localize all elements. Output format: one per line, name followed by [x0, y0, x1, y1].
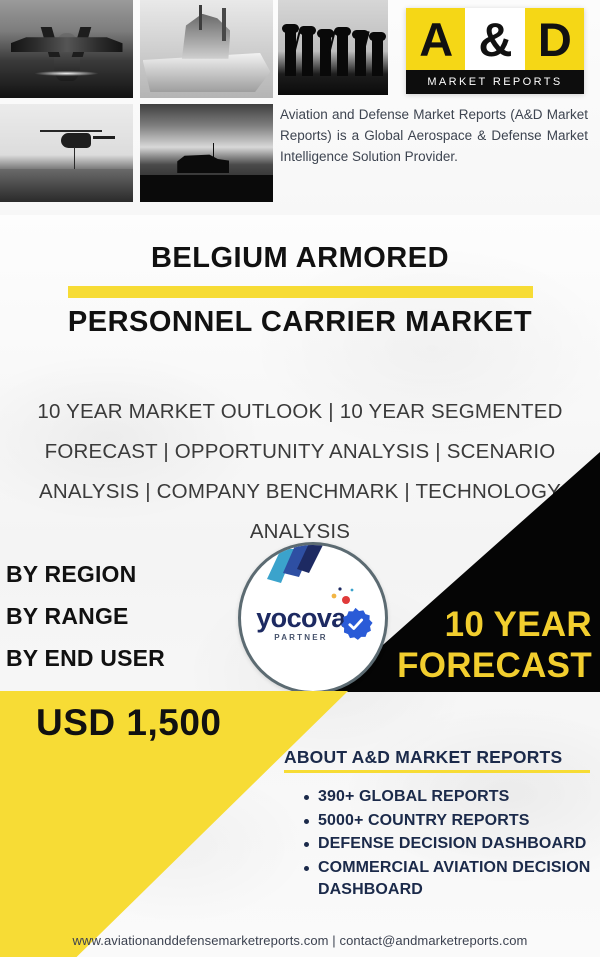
naval-warship-photo: [140, 0, 273, 98]
segmentation-list: BY REGION BY RANGE BY END USER: [6, 558, 165, 684]
title-yellow-rule: [68, 286, 533, 298]
list-item: 390+ GLOBAL REPORTS: [318, 786, 600, 809]
ad-market-reports-logo: A & D MARKET REPORTS: [406, 8, 584, 94]
fighter-jet-photo: [0, 0, 133, 98]
list-item: COMMERCIAL AVIATION DECISION DASHBOARD: [318, 857, 600, 902]
armored-vehicle-photo: [140, 104, 273, 202]
report-scope-subtitle: 10 YEAR MARKET OUTLOOK | 10 YEAR SEGMENT…: [20, 392, 580, 552]
logo-letter-ampersand: &: [465, 8, 524, 70]
about-bullet-list: 390+ GLOBAL REPORTS 5000+ COUNTRY REPORT…: [296, 786, 600, 903]
header-band: A & D MARKET REPORTS Aviation and Defens…: [0, 0, 600, 215]
report-title-line-2: PERSONNEL CARRIER MARKET: [0, 307, 600, 339]
logo-letter-row: A & D: [406, 8, 584, 70]
yocova-mark-icon: [267, 542, 323, 593]
segmentation-item-range: BY RANGE: [6, 600, 165, 633]
segmentation-item-region: BY REGION: [6, 558, 165, 591]
about-heading: ABOUT A&D MARKET REPORTS: [284, 747, 590, 768]
logo-tagline-text: MARKET REPORTS: [427, 76, 562, 88]
logo-letter-a: A: [406, 8, 465, 70]
list-item: 5000+ COUNTRY REPORTS: [318, 810, 600, 833]
report-title-line-1: BELGIUM ARMORED: [0, 243, 600, 275]
list-item: DEFENSE DECISION DASHBOARD: [318, 833, 600, 856]
yocova-partner-badge: yocova PARTNER: [238, 542, 388, 694]
report-poster: A & D MARKET REPORTS Aviation and Defens…: [0, 0, 600, 957]
report-title-block: BELGIUM ARMORED PERSONNEL CARRIER MARKET: [0, 243, 600, 339]
logo-letter-d: D: [525, 8, 584, 70]
price-label: USD 1,500: [36, 702, 222, 744]
verified-check-icon: [338, 607, 373, 642]
segmentation-item-end-user: BY END USER: [6, 642, 165, 675]
about-yellow-rule: [284, 770, 590, 773]
company-intro-paragraph: Aviation and Defense Market Reports (A&D…: [280, 104, 588, 167]
soldiers-silhouette-photo: [278, 0, 388, 95]
logo-tagline-bar: MARKET REPORTS: [406, 70, 584, 94]
footer-contact: www.aviationanddefensemarketreports.com …: [0, 933, 600, 948]
helicopter-photo: [0, 104, 133, 202]
